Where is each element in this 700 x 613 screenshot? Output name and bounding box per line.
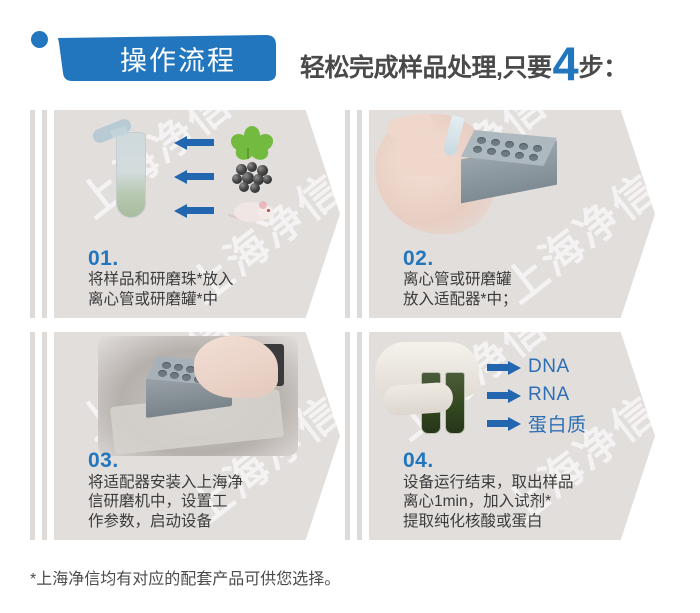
arrow-right-icon [487,417,521,429]
output-row-protein: 蛋白质 [487,410,647,436]
grinding-beads-icon [228,160,278,194]
panel-accent-bar [30,110,35,318]
step-text-line: 离心1min，加入试剂* [403,492,653,512]
output-label: DNA [528,356,570,378]
leaf-icon [228,126,278,160]
step-panel-body: 上海净信 上海净信 [54,110,340,318]
output-row-dna: DNA [487,354,647,380]
glove-thumb-icon [382,382,454,417]
step-text-line: 设备运行结束，取出样品 [403,473,653,493]
step-text-line: 离心管或研磨罐*中 [88,290,338,310]
step-04-illustration: DNA RNA 蛋白质 [369,332,655,460]
footer-note: *上海净信均有对应的配套产品可供您选择。 [30,565,340,589]
hand-icon [194,336,278,398]
step-text-line: 将样品和研磨珠*放入 [88,270,338,290]
step-text-line: 提取纯化核酸或蛋白 [403,512,653,532]
panel-accent-bar [345,110,350,318]
page-header: 操作流程 轻松完成样品处理,只要 4 步： [0,24,700,90]
panel-accent-bar [30,332,35,540]
step-panel-body: 上海净信 上海净信 DNA RNA [369,332,655,540]
arrow-right-icon [487,361,521,373]
arrow-left-icon [174,204,214,216]
finger-icon [394,134,451,158]
steps-container: 上海净信 上海净信 [0,110,700,548]
step-panel-01: 上海净信 上海净信 [30,110,340,318]
grinder-machine-icon [98,336,298,456]
step-number: 01. [88,248,338,270]
step-02-illustration [369,110,655,238]
step-04-text: 04. 设备运行结束，取出样品 离心1min，加入试剂* 提取纯化核酸或蛋白 [403,450,653,532]
step-text-line: 离心管或研磨罐 [403,270,653,290]
output-row-rna: RNA [487,382,647,408]
step-text-line: 将适配器安装入上海净 [88,473,338,493]
arrow-left-icon [174,170,214,182]
step-number: 02. [403,248,653,270]
section-banner-label: 操作流程 [44,32,276,84]
step-text-line: 信研磨机中，设置工 [88,492,338,512]
step-01-illustration [54,110,340,238]
step-panel-03: 上海净信 上海净信 [30,332,340,540]
step-03-illustration [54,332,340,460]
step-text-line: 作参数，启动设备 [88,512,338,532]
panel-accent-bar [42,110,47,318]
step-panel-body: 上海净信 上海净信 [369,110,655,318]
panel-accent-bar [42,332,47,540]
arrow-right-icon [487,389,521,401]
mouse-icon [228,194,278,228]
arrow-left-icon [174,136,214,148]
step-03-text: 03. 将适配器安装入上海净 信研磨机中，设置工 作参数，启动设备 [88,450,338,532]
step-panel-body: 上海净信 上海净信 [54,332,340,540]
page-title: 轻松完成样品处理,只要 4 步： [300,32,628,84]
page-title-step-count: 4 [552,45,577,84]
output-label: RNA [528,384,570,406]
step-number: 03. [88,450,338,472]
section-banner: 操作流程 [44,32,276,84]
step-text-line: 放入适配器*中； [403,290,653,310]
sample-row-mouse [174,196,334,224]
page-title-prefix: 轻松完成样品处理,只要 [300,56,551,84]
step-01-text: 01. 将样品和研磨珠*放入 离心管或研磨罐*中 [88,248,338,310]
page-title-suffix: 步： [579,56,628,84]
step-panel-04: 上海净信 上海净信 DNA RNA [345,332,655,540]
step-02-text: 02. 离心管或研磨罐 放入适配器*中； [403,248,653,310]
sample-row-leaf [174,128,334,156]
step-number: 04. [403,450,653,472]
panel-accent-bar [345,332,350,540]
centrifuge-tube-icon [116,132,146,218]
output-label: 蛋白质 [528,410,587,437]
panel-accent-bar [357,110,362,318]
sample-row-beads [174,162,334,190]
finger-icon [399,154,458,177]
panel-accent-bar [357,332,362,540]
step-panel-02: 上海净信 上海净信 [345,110,655,318]
